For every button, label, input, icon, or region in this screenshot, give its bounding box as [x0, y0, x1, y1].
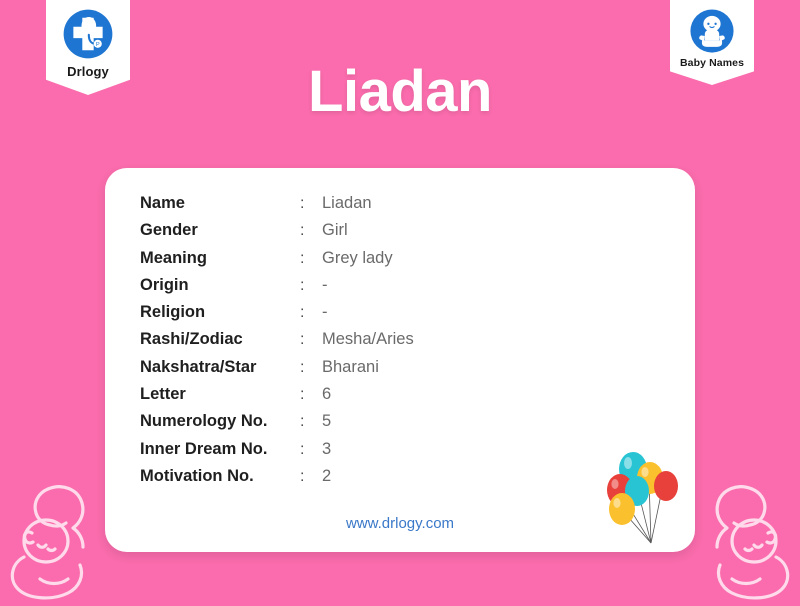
table-row: Inner Dream No. : 3 [140, 440, 414, 467]
row-value: - [322, 303, 328, 322]
row-separator: : [300, 195, 322, 213]
balloons-icon [599, 447, 687, 552]
details-table: Name : Liadan Gender : Girl Meaning : Gr… [140, 194, 414, 494]
row-label: Letter [140, 385, 300, 404]
row-value: Liadan [322, 194, 372, 213]
row-label: Meaning [140, 249, 300, 268]
row-separator: : [300, 222, 322, 240]
row-separator: : [300, 331, 322, 349]
row-label: Motivation No. [140, 467, 300, 486]
table-row: Letter : 6 [140, 385, 414, 412]
page-title: Liadan [0, 63, 800, 121]
row-label: Inner Dream No. [140, 440, 300, 459]
row-value: 5 [322, 412, 331, 431]
name-details-card: Name : Liadan Gender : Girl Meaning : Gr… [105, 168, 695, 552]
table-row: Motivation No. : 2 [140, 467, 414, 494]
row-label: Gender [140, 221, 300, 240]
row-separator: : [300, 468, 322, 486]
row-separator: : [300, 441, 322, 459]
drlogy-medical-cross-doctor-icon: P [62, 8, 114, 60]
table-row: Numerology No. : 5 [140, 412, 414, 439]
row-value: 3 [322, 440, 331, 459]
table-row: Name : Liadan [140, 194, 414, 221]
row-label: Rashi/Zodiac [140, 330, 300, 349]
table-row: Rashi/Zodiac : Mesha/Aries [140, 330, 414, 357]
row-separator: : [300, 386, 322, 404]
table-row: Religion : - [140, 303, 414, 330]
row-label: Numerology No. [140, 412, 300, 431]
row-value: 6 [322, 385, 331, 404]
row-separator: : [300, 277, 322, 295]
row-label: Name [140, 194, 300, 213]
table-row: Gender : Girl [140, 221, 414, 248]
poster-canvas: P Drlogy Baby Names Liadan Name : Liadan [0, 0, 800, 600]
website-link[interactable]: www.drlogy.com [105, 515, 695, 532]
row-value: Grey lady [322, 249, 393, 268]
mother-and-baby-icon [688, 473, 796, 606]
row-value: Bharani [322, 358, 379, 377]
row-value: 2 [322, 467, 331, 486]
row-value: Mesha/Aries [322, 330, 414, 349]
row-separator: : [300, 304, 322, 322]
row-separator: : [300, 250, 322, 268]
table-row: Nakshatra/Star : Bharani [140, 358, 414, 385]
row-value: - [322, 276, 328, 295]
row-value: Girl [322, 221, 348, 240]
row-separator: : [300, 359, 322, 377]
svg-text:P: P [96, 42, 100, 48]
row-label: Religion [140, 303, 300, 322]
table-row: Meaning : Grey lady [140, 249, 414, 276]
row-label: Origin [140, 276, 300, 295]
row-separator: : [300, 413, 322, 431]
table-row: Origin : - [140, 276, 414, 303]
row-label: Nakshatra/Star [140, 358, 300, 377]
baby-silhouette-icon [689, 8, 735, 54]
mother-and-baby-icon [4, 473, 112, 606]
